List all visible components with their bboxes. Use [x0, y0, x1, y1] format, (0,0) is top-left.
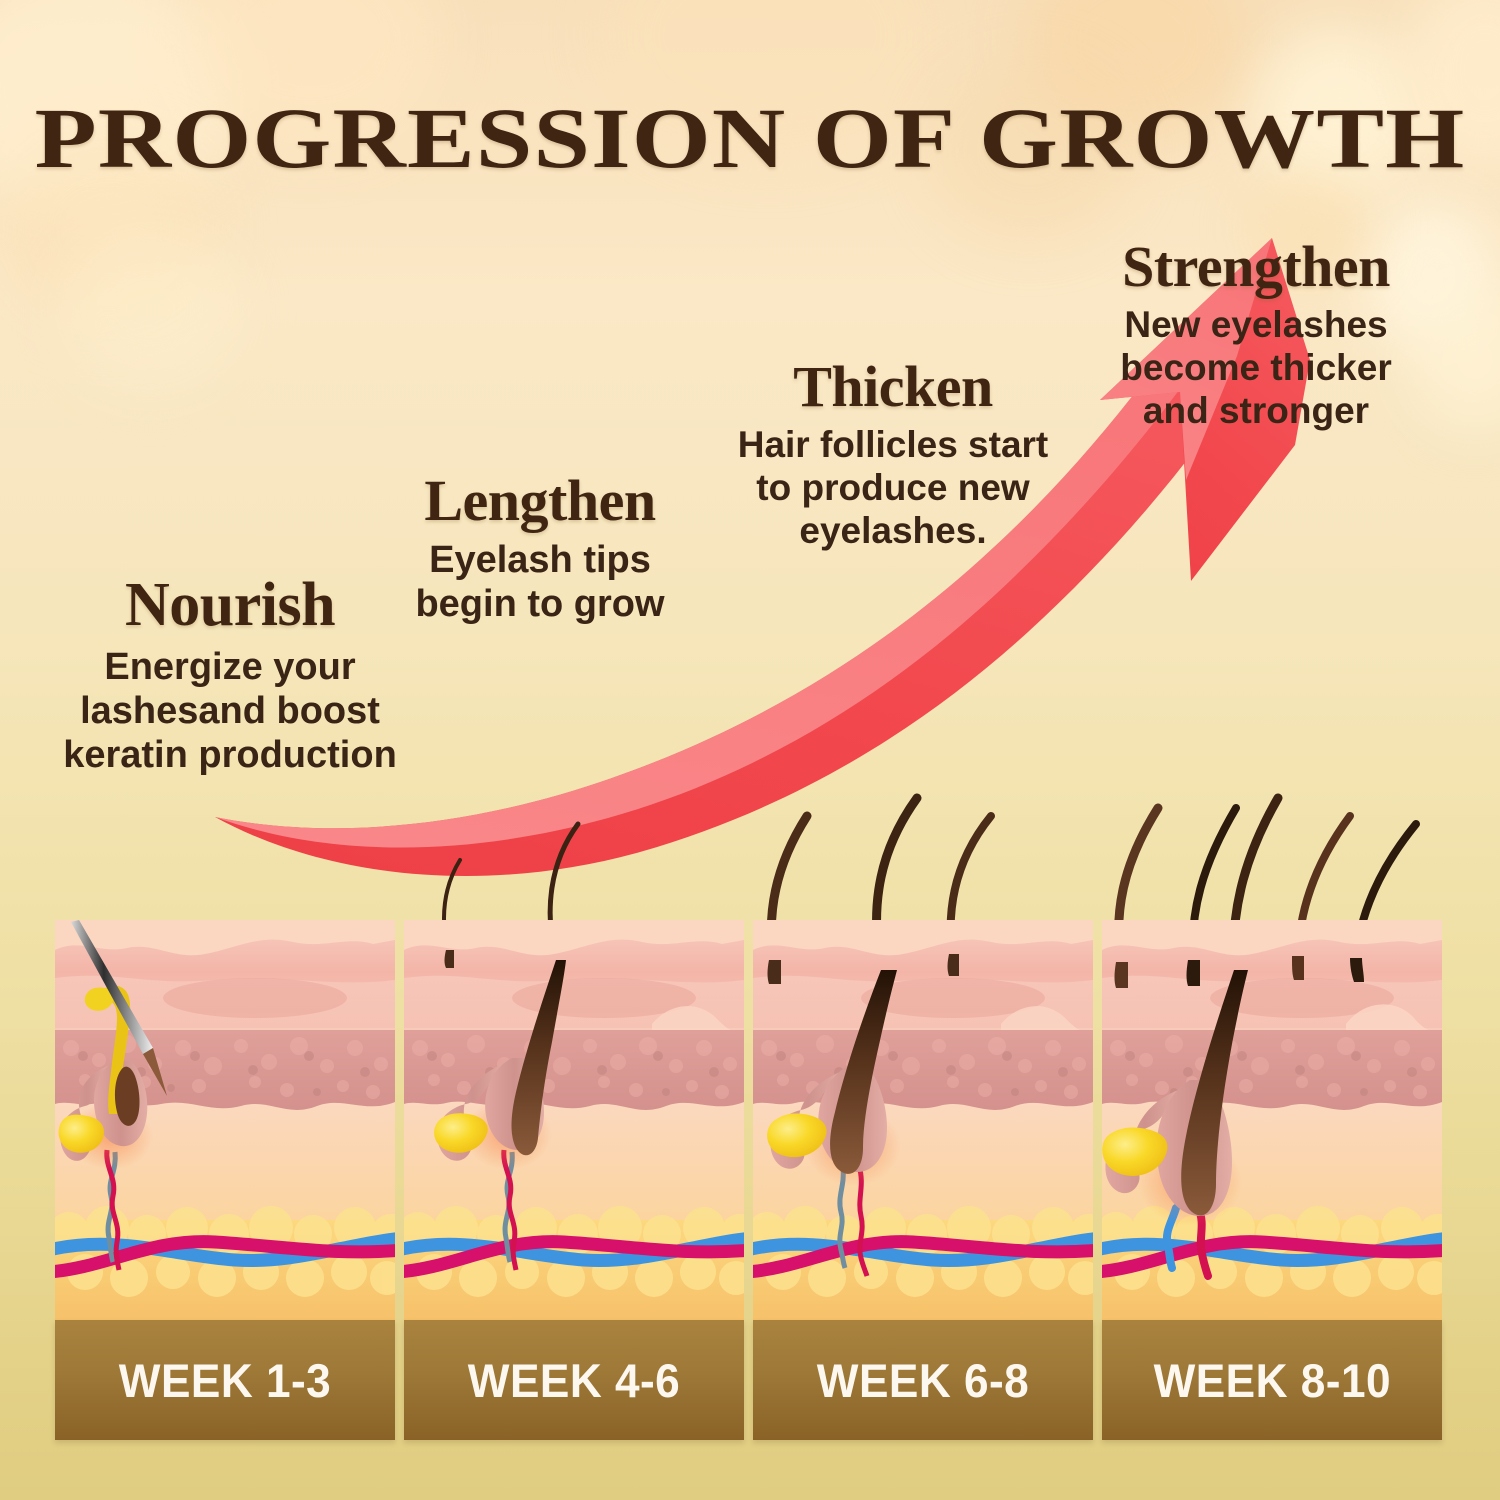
- skin-cross-section-2: [404, 920, 744, 1320]
- infographic-canvas: PROGRESSION OF GROWTH Nourish Energize y…: [0, 0, 1500, 1500]
- panel-week-1-3[interactable]: WEEK 1-3: [55, 920, 395, 1440]
- panel-label-week-4-6: WEEK 4-6: [404, 1320, 744, 1440]
- hair-short-root: [445, 950, 455, 968]
- panel-label-week-8-10: WEEK 8-10: [1102, 1320, 1442, 1440]
- hair-left-root: [768, 960, 782, 984]
- skin-cross-section-1: [55, 920, 395, 1320]
- granular-layer: [1102, 1030, 1442, 1110]
- panel-row: WEEK 1-3: [0, 0, 1500, 1500]
- hair-root-4: [1292, 956, 1304, 980]
- panel-week-8-10[interactable]: WEEK 8-10: [1102, 920, 1442, 1440]
- epidermis-blush: [163, 978, 347, 1018]
- hair-root-2: [1187, 960, 1201, 986]
- skin-cross-section-3: [753, 920, 1093, 1320]
- granular-layer: [404, 1030, 744, 1110]
- panel-label-text-2: WEEK 4-6: [468, 1353, 680, 1408]
- panel-label-text-3: WEEK 6-8: [817, 1353, 1029, 1408]
- panel-label-text-1: WEEK 1-3: [119, 1353, 331, 1408]
- hair-root-1: [1115, 962, 1129, 988]
- skin-cross-section-4: [1102, 920, 1442, 1320]
- hair-right-root: [948, 954, 960, 976]
- granular-layer: [753, 1030, 1093, 1110]
- panel-week-6-8[interactable]: WEEK 6-8: [753, 920, 1093, 1440]
- panel-week-4-6[interactable]: WEEK 4-6: [404, 920, 744, 1440]
- panel-label-week-1-3: WEEK 1-3: [55, 1320, 395, 1440]
- panel-label-week-6-8: WEEK 6-8: [753, 1320, 1093, 1440]
- panel-label-text-4: WEEK 8-10: [1153, 1353, 1390, 1408]
